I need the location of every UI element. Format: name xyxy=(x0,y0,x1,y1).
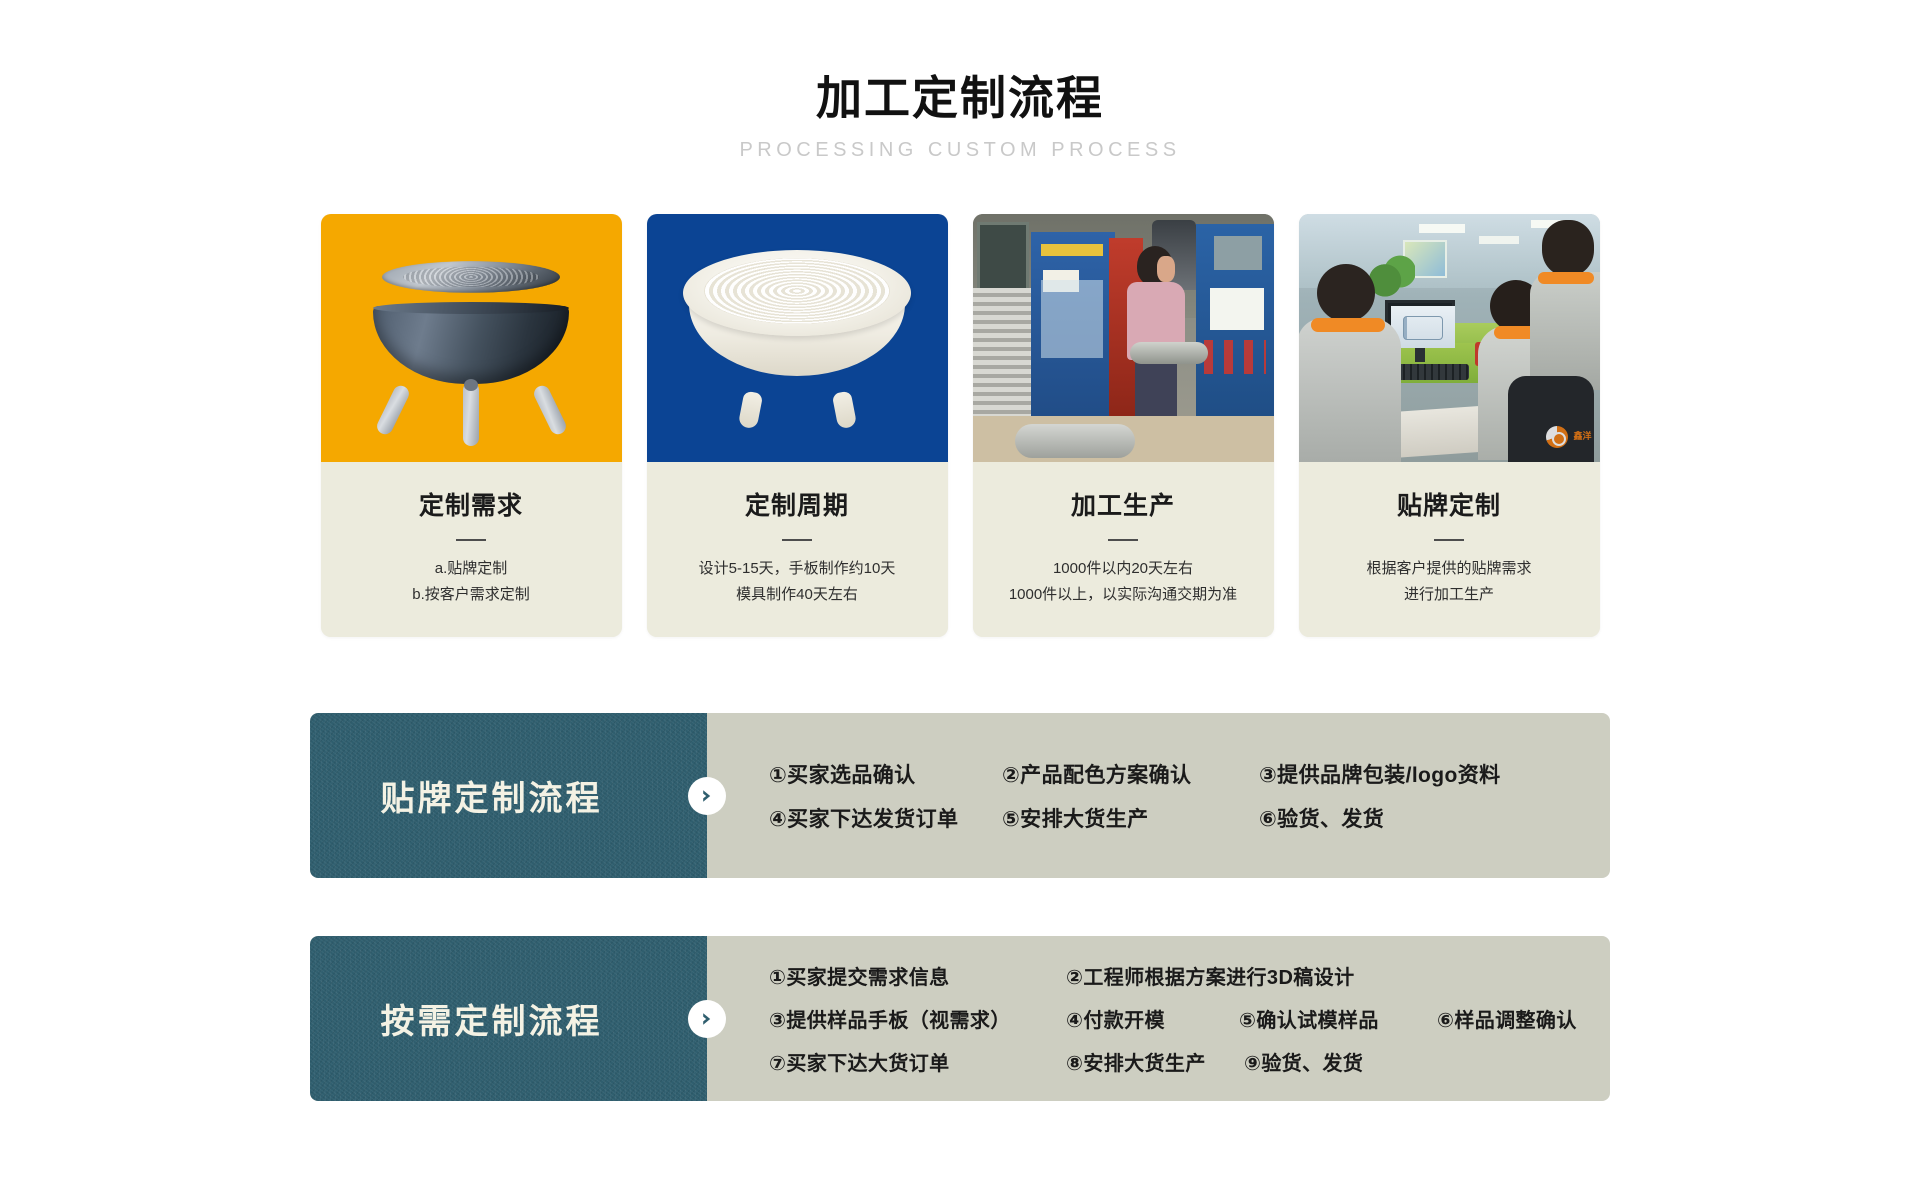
banner-title: 贴牌定制流程 xyxy=(381,771,637,820)
banner-title: 按需定制流程 xyxy=(381,994,637,1043)
brand-watermark: 鑫洋 xyxy=(1546,426,1591,448)
blue-machine xyxy=(1031,232,1115,440)
process-step: ④买家下达发货订单 xyxy=(769,803,1002,833)
panel-screen xyxy=(1210,288,1264,330)
process-card-custom-requirement[interactable]: 定制需求 a.贴牌定制 b.按客户需求定制 xyxy=(321,214,622,638)
product-bowl-part xyxy=(373,306,569,384)
card-description: a.贴牌定制 b.按客户需求定制 xyxy=(335,556,608,608)
process-step: ①买家选品确认 xyxy=(769,759,1002,789)
machine-window xyxy=(1041,280,1103,358)
process-card-production[interactable]: 加工生产 1000件以内20天左右 1000件以上，以实际沟通交期为准 xyxy=(973,214,1274,638)
chevron-right-icon[interactable] xyxy=(688,777,726,815)
monitor-stand xyxy=(1415,348,1425,362)
process-step: ⑥验货、发货 xyxy=(1259,803,1384,833)
process-card-oem-customization[interactable]: 鑫洋 贴牌定制 根据客户提供的贴牌需求 进行加工生产 xyxy=(1299,214,1600,638)
keyboard xyxy=(1391,364,1469,380)
molded-part xyxy=(1015,424,1135,458)
oem-process-banner: 贴牌定制流程 ①买家选品确认 ②产品配色方案确认 ③提供品牌包装/logo资料 … xyxy=(310,713,1610,878)
factory-worker xyxy=(1123,246,1189,436)
employee-head-right xyxy=(1542,220,1594,276)
process-card-custom-cycle[interactable]: 定制周期 设计5-15天，手板制作约10天 模具制作40天左右 xyxy=(647,214,948,638)
processing-custom-process-page: 加工定制流程 PROCESSING CUSTOM PROCESS 定制需求 a.… xyxy=(0,0,1920,1200)
chevron-right-icon[interactable] xyxy=(688,1000,726,1038)
office-chair xyxy=(1508,376,1594,462)
employee-collar-right xyxy=(1538,272,1594,284)
employee-body-right xyxy=(1530,272,1600,390)
steps-row: ④买家下达发货订单 ⑤安排大货生产 ⑥验货、发货 xyxy=(769,796,1582,840)
product-leg-right xyxy=(531,383,568,437)
card-divider xyxy=(782,539,812,541)
steps-row: ①买家提交需求信息 ②工程师根据方案进行3D稿设计 xyxy=(769,954,1582,997)
process-step: ⑥样品调整确认 xyxy=(1437,1004,1577,1033)
card-title: 加工生产 xyxy=(987,486,1260,522)
employee-collar-left xyxy=(1311,318,1385,332)
card-body: 定制需求 a.贴牌定制 b.按客户需求定制 xyxy=(321,462,622,638)
steps-row: ③提供样品手板（视需求） ④付款开模 ⑤确认试模样品 ⑥样品调整确认 xyxy=(769,997,1582,1040)
brand-logo-icon xyxy=(1546,426,1568,448)
process-step: ④付款开模 xyxy=(1066,1004,1239,1033)
factory-window xyxy=(977,222,1029,296)
panel-upper-screen xyxy=(1214,236,1262,270)
process-step: ⑤确认试模样品 xyxy=(1239,1004,1437,1033)
product-lid-part xyxy=(382,261,560,293)
process-step: ⑦买家下达大货订单 xyxy=(769,1047,1066,1076)
process-step: ⑤安排大货生产 xyxy=(1002,803,1259,833)
office-engineers-cad-photo: 鑫洋 xyxy=(1299,214,1600,462)
page-subtitle: PROCESSING CUSTOM PROCESS xyxy=(0,139,1920,162)
card-title: 贴牌定制 xyxy=(1313,486,1586,522)
employee-body-left xyxy=(1299,318,1401,462)
card-divider xyxy=(1108,539,1138,541)
card-description: 1000件以内20天左右 1000件以上，以实际沟通交期为准 xyxy=(987,556,1260,608)
process-step: ③提供样品手板（视需求） xyxy=(769,1004,1066,1033)
machine-label xyxy=(1041,244,1103,256)
process-step: ②工程师根据方案进行3D稿设计 xyxy=(1066,961,1355,990)
employee-head-left xyxy=(1317,264,1375,322)
steps-row: ①买家选品确认 ②产品配色方案确认 ③提供品牌包装/logo资料 xyxy=(769,752,1582,796)
white-prototype-photo xyxy=(647,214,948,462)
banner-steps-ondemand: ①买家提交需求信息 ②工程师根据方案进行3D稿设计 ③提供样品手板（视需求） ④… xyxy=(707,936,1610,1101)
card-divider xyxy=(1434,539,1464,541)
card-title: 定制需求 xyxy=(335,486,608,522)
watermark-text: 鑫洋 xyxy=(1573,432,1591,442)
factory-injection-molding-photo xyxy=(973,214,1274,462)
card-body: 加工生产 1000件以内20天左右 1000件以上，以实际沟通交期为准 xyxy=(973,462,1274,638)
prototype-maze-pattern xyxy=(704,258,890,324)
ondemand-process-banner: 按需定制流程 ①买家提交需求信息 ②工程师根据方案进行3D稿设计 ③提供样品手板… xyxy=(310,936,1610,1101)
exploded-product-render xyxy=(321,214,622,462)
product-leg-left xyxy=(374,383,411,437)
banner-steps-oem: ①买家选品确认 ②产品配色方案确认 ③提供品牌包装/logo资料 ④买家下达发货… xyxy=(707,713,1610,878)
prototype-leg-right xyxy=(831,390,857,429)
process-step: ⑧安排大货生产 xyxy=(1066,1047,1244,1076)
process-step: ③提供品牌包装/logo资料 xyxy=(1259,759,1501,789)
card-description: 设计5-15天，手板制作约10天 模具制作40天左右 xyxy=(661,556,934,608)
panel-buttons xyxy=(1204,340,1266,374)
card-description: 根据客户提供的贴牌需求 进行加工生产 xyxy=(1313,556,1586,608)
product-leg-center xyxy=(463,382,479,446)
page-title: 加工定制流程 xyxy=(0,72,1920,125)
card-divider xyxy=(456,539,486,541)
process-step: ①买家提交需求信息 xyxy=(769,961,1066,990)
prototype-leg-left xyxy=(737,390,763,429)
ceiling-light xyxy=(1419,224,1465,233)
ceiling-light xyxy=(1479,236,1519,244)
card-title: 定制周期 xyxy=(661,486,934,522)
process-step: ②产品配色方案确认 xyxy=(1002,759,1259,789)
cad-drawing xyxy=(1403,316,1443,340)
silver-duct xyxy=(1130,342,1208,364)
process-card-list: 定制需求 a.贴牌定制 b.按客户需求定制 定制周期 设计5-15天，手板制作约… xyxy=(0,214,1920,638)
process-step: ⑨验货、发货 xyxy=(1244,1047,1363,1076)
worker-face xyxy=(1157,256,1175,282)
banner-label-oem: 贴牌定制流程 xyxy=(310,713,707,878)
banner-label-ondemand: 按需定制流程 xyxy=(310,936,707,1101)
card-body: 定制周期 设计5-15天，手板制作约10天 模具制作40天左右 xyxy=(647,462,948,638)
steps-row: ⑦买家下达大货订单 ⑧安排大货生产 ⑨验货、发货 xyxy=(769,1040,1582,1083)
card-body: 贴牌定制 根据客户提供的贴牌需求 进行加工生产 xyxy=(1299,462,1600,638)
page-header: 加工定制流程 PROCESSING CUSTOM PROCESS xyxy=(0,0,1920,162)
